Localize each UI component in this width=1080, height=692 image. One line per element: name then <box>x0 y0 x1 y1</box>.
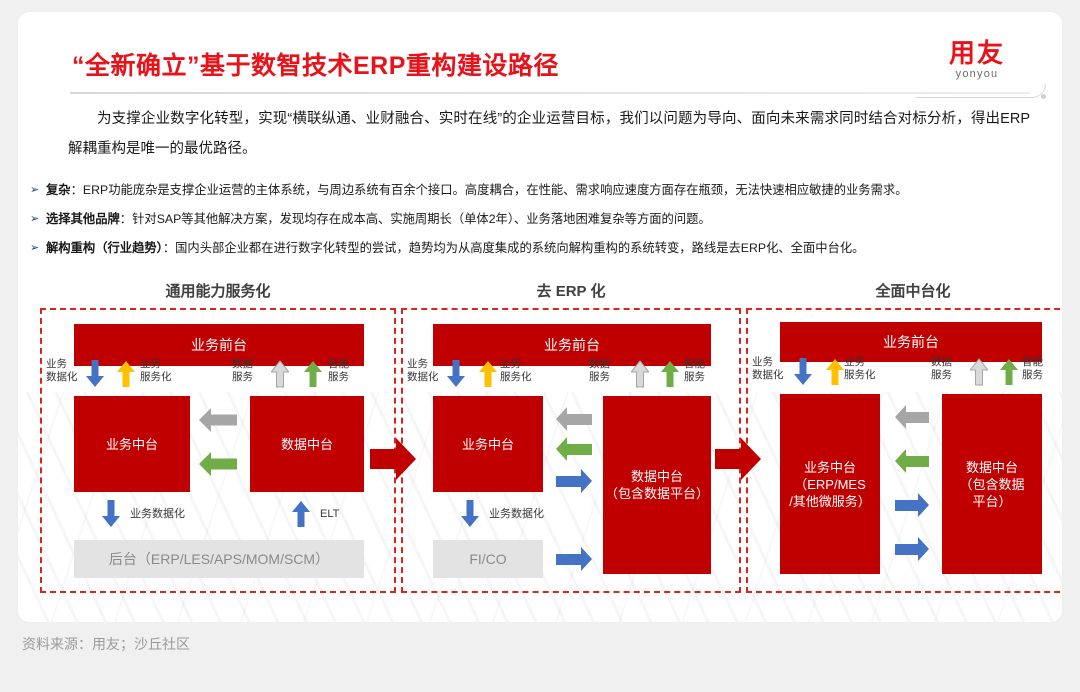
panel1-arrow-up-green-icon <box>304 360 322 388</box>
panel1-arrow-up-gray-icon <box>271 360 289 388</box>
panel2-label-biz-datafication: 业务数据化 <box>489 508 544 521</box>
panel3-arrow-up-gray-icon <box>970 358 988 386</box>
panel2-arrow-left-gray-icon <box>555 406 593 432</box>
bullet-text: ：针对SAP等其他解决方案，发现均存在成本高、实施周期长（单体2年）、业务落地困… <box>120 212 711 226</box>
panel2-arrow-right-blue-bottom-icon <box>555 546 593 572</box>
bullet-label: 选择其他品牌 <box>46 212 120 226</box>
panel2-data-midplatform-box: 数据中台（包含数据平台） <box>603 396 711 574</box>
bullet-text: ：国内头部企业都在进行数字化转型的尝试，趋势均为从高度集成的系统向解构重构的系统… <box>163 241 865 255</box>
panel1-arrow-down-blue-bottom-icon <box>102 500 120 528</box>
panel1-backend-box: 后台（ERP/LES/APS/MOM/SCM） <box>74 540 364 578</box>
bullet-list: ➢复杂：ERP功能庞杂是支撑企业运营的主体系统，与周边系统有百余个接口。高度耦合… <box>30 176 1060 263</box>
logo-chinese-text: 用友 <box>922 40 1032 67</box>
panel2-label-biz-service: 业务服务化 <box>500 358 532 384</box>
panel3-arrow-right-blue-bottom-icon <box>894 536 930 562</box>
panel2-arrow-down-blue-icon <box>447 360 465 388</box>
panel1-label-smart-service: 智能服务 <box>328 358 349 384</box>
panel1-data-midplatform-box: 数据中台 <box>250 396 364 492</box>
panel1-label-data-service: 数据服务 <box>232 358 253 384</box>
panel3-arrow-up-green-icon <box>1000 358 1018 386</box>
panel3-label-biz-service: 业务服务化 <box>844 356 876 382</box>
panel3-arrow-left-gray-icon <box>894 404 930 430</box>
panel3-arrow-up-yellow-icon <box>826 358 844 386</box>
panel3-arrow-down-blue-icon <box>794 358 812 386</box>
section-header-full-midplatform: 全面中台化 <box>746 280 1062 301</box>
panel2-arrow-up-gray-icon <box>631 360 649 388</box>
panel2-arrow-right-blue-icon <box>555 468 593 494</box>
yonyou-logo: 用友 yonyou <box>922 40 1032 80</box>
panel1-arrow-left-green-icon <box>198 450 238 478</box>
bullet-arrow-icon: ➢ <box>30 205 39 234</box>
header-divider <box>70 92 1030 94</box>
panel2-label-smart-service: 智能服务 <box>684 358 705 384</box>
panel2-label-data-service: 数据服务 <box>589 358 610 384</box>
diagram-panel-1: 业务前台 业务数据化 业务服务化 数据服务 智能服务 业务中台 数据中台 <box>40 308 396 593</box>
panel1-arrow-up-yellow-icon <box>117 360 135 388</box>
bullet-text: ：ERP功能庞杂是支撑企业运营的主体系统，与周边系统有百余个接口。高度耦合，在性… <box>71 183 908 197</box>
intro-paragraph: 为支撑企业数字化转型，实现“横联纵通、业财融合、实时在线”的企业运营目标，我们以… <box>68 104 1030 164</box>
panel3-label-biz-data: 业务数据化 <box>752 356 784 382</box>
panel2-arrow-up-yellow-icon <box>479 360 497 388</box>
panel3-arrow-right-blue-icon <box>894 492 930 518</box>
bullet-item-other-brands: ➢选择其他品牌：针对SAP等其他解决方案，发现均存在成本高、实施周期长（单体2年… <box>30 205 1060 234</box>
panel1-label-biz-data: 业务数据化 <box>46 358 78 384</box>
panel2-label-biz-data: 业务数据化 <box>407 358 439 384</box>
section-header-general-capability: 通用能力服务化 <box>40 280 396 301</box>
connector-arrow-1-icon <box>370 436 416 487</box>
panel1-arrow-left-gray-icon <box>198 406 238 434</box>
header-dot-decoration <box>1041 94 1046 99</box>
panel3-arrow-left-green-icon <box>894 448 930 474</box>
panel1-label-biz-service: 业务服务化 <box>140 358 172 384</box>
bullet-arrow-icon: ➢ <box>30 176 39 205</box>
bullet-item-complexity: ➢复杂：ERP功能庞杂是支撑企业运营的主体系统，与周边系统有百余个接口。高度耦合… <box>30 176 1060 205</box>
slide-card: “全新确立”基于数智技术ERP重构建设路径 用友 yonyou 为支撑企业数字化… <box>18 12 1062 622</box>
source-note: 资料来源：用友；沙丘社区 <box>22 634 190 654</box>
panel1-arrow-up-blue-bottom-icon <box>292 500 310 528</box>
panel2-backend-box: FI/CO <box>433 540 543 578</box>
panel1-business-midplatform-box: 业务中台 <box>74 396 190 492</box>
diagram-panel-2: 业务前台 业务数据化 业务服务化 数据服务 智能服务 业务中台 数据中台（包含数… <box>401 308 741 593</box>
panel3-label-data-service: 数据服务 <box>931 356 952 382</box>
panel2-arrow-up-green-icon <box>661 360 679 388</box>
panel1-label-elt: ELT <box>320 508 339 521</box>
panel1-label-biz-datafication: 业务数据化 <box>130 508 185 521</box>
panel3-label-smart-service: 智能服务 <box>1022 356 1043 382</box>
panel3-business-midplatform-box: 业务中台（ERP/MES/其他微服务） <box>780 394 880 574</box>
page-title: “全新确立”基于数智技术ERP重构建设路径 <box>72 46 559 82</box>
section-header-de-erp: 去 ERP 化 <box>401 280 741 301</box>
connector-arrow-2-icon <box>715 436 761 487</box>
bullet-label: 复杂 <box>46 183 71 197</box>
panel3-front-box: 业务前台 <box>780 322 1042 362</box>
panel1-arrow-down-blue-icon <box>86 360 104 388</box>
panel2-arrow-left-green-icon <box>555 436 593 462</box>
panel3-data-midplatform-box: 数据中台（包含数据平台） <box>942 394 1042 574</box>
header-swoosh-decoration <box>916 84 1046 98</box>
bullet-item-restructure: ➢解构重构（行业趋势）：国内头部企业都在进行数字化转型的尝试，趋势均为从高度集成… <box>30 234 1060 263</box>
diagram-panel-3: 业务前台 业务数据化 业务服务化 数据服务 智能服务 业务中台（ERP/MES/… <box>746 308 1062 593</box>
panel2-arrow-down-blue-bottom-icon <box>461 500 479 528</box>
panel2-business-midplatform-box: 业务中台 <box>433 396 543 492</box>
bullet-label: 解构重构（行业趋势） <box>46 241 163 255</box>
bullet-arrow-icon: ➢ <box>30 234 39 263</box>
logo-latin-text: yonyou <box>922 68 1032 80</box>
